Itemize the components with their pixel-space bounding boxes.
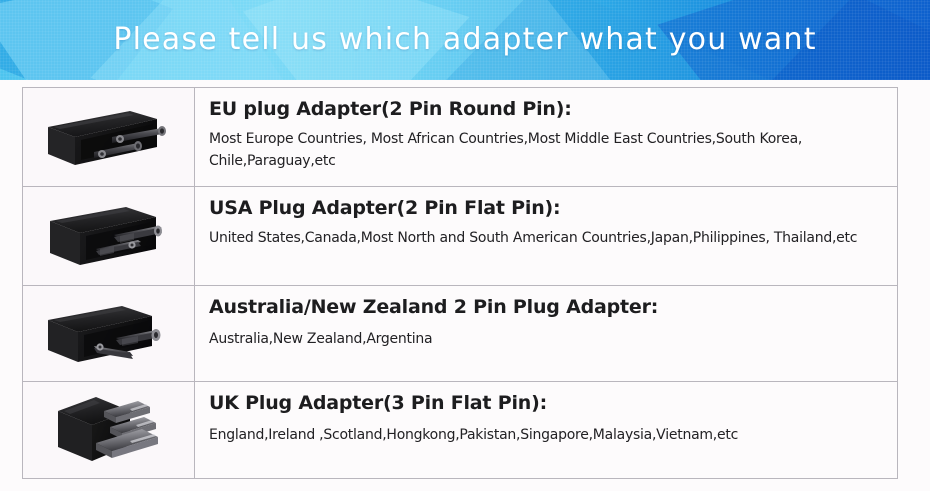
adapter-image-cell bbox=[23, 286, 195, 381]
adapter-image-cell bbox=[23, 382, 195, 478]
table-row: Australia/New Zealand 2 Pin Plug Adapter… bbox=[23, 286, 897, 382]
adapter-image-cell bbox=[23, 187, 195, 285]
adapter-image-cell bbox=[23, 88, 195, 186]
adapter-selection-page: Please tell us which adapter what you wa… bbox=[0, 0, 930, 491]
banner-title: Please tell us which adapter what you wa… bbox=[0, 22, 930, 57]
adapter-table: EU plug Adapter(2 Pin Round Pin): Most E… bbox=[22, 87, 898, 479]
adapter-text-cell: USA Plug Adapter(2 Pin Flat Pin): United… bbox=[195, 187, 897, 285]
adapter-title: Australia/New Zealand 2 Pin Plug Adapter… bbox=[209, 295, 887, 321]
table-row: EU plug Adapter(2 Pin Round Pin): Most E… bbox=[23, 88, 897, 187]
adapter-title: EU plug Adapter(2 Pin Round Pin): bbox=[209, 97, 887, 123]
adapter-description: Australia,New Zealand,Argentina bbox=[209, 328, 887, 351]
adapter-text-cell: Australia/New Zealand 2 Pin Plug Adapter… bbox=[195, 286, 897, 381]
adapter-text-cell: UK Plug Adapter(3 Pin Flat Pin): England… bbox=[195, 382, 897, 478]
adapter-description: Most Europe Countries, Most African Coun… bbox=[209, 128, 887, 173]
uk-plug-adapter-photo bbox=[34, 387, 184, 473]
australia-plug-adapter-photo bbox=[34, 294, 184, 374]
adapter-title: USA Plug Adapter(2 Pin Flat Pin): bbox=[209, 196, 887, 222]
usa-plug-adapter-photo bbox=[34, 195, 184, 277]
adapter-description: United States,Canada,Most North and Sout… bbox=[209, 227, 887, 250]
eu-plug-adapter-photo bbox=[34, 97, 184, 177]
header-banner: Please tell us which adapter what you wa… bbox=[0, 0, 930, 80]
adapter-text-cell: EU plug Adapter(2 Pin Round Pin): Most E… bbox=[195, 88, 897, 186]
adapter-title: UK Plug Adapter(3 Pin Flat Pin): bbox=[209, 391, 887, 417]
table-row: UK Plug Adapter(3 Pin Flat Pin): England… bbox=[23, 382, 897, 479]
adapter-description: England,Ireland ,Scotland,Hongkong,Pakis… bbox=[209, 424, 887, 447]
table-row: USA Plug Adapter(2 Pin Flat Pin): United… bbox=[23, 187, 897, 286]
